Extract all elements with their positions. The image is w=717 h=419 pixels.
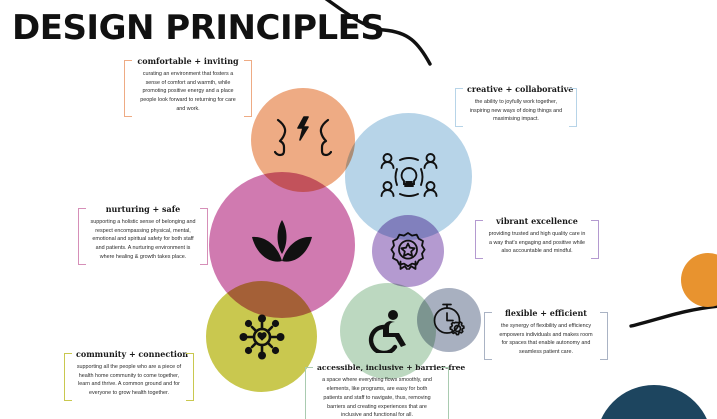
bracket-right [186,353,194,401]
bracket-left [455,88,463,127]
principle-title: flexible + efficient [496,309,596,318]
heart-network-hub-icon [237,312,287,362]
bracket-right [200,208,208,265]
principle-card-creative[interactable]: creative + collaborative the ability to … [455,80,577,129]
bracket-left [64,353,72,401]
principle-title: community + connection [76,350,182,359]
principle-body: the ability to joyfully work together, i… [467,98,565,124]
bubble-flexible-efficient[interactable] [417,288,481,352]
principle-title: accessible, inclusive + barrier-free [317,364,437,372]
bracket-left [484,312,492,360]
navy-accent-circle [596,385,712,419]
leaf-plant-icon [251,220,313,270]
award-ribbon-star-icon [390,232,426,270]
stopwatch-gear-icon [431,302,467,338]
bubble-community-connection[interactable] [206,281,317,392]
bracket-right [441,367,449,419]
bracket-right [244,60,252,117]
principle-card-flexible[interactable]: flexible + efficient the synergy of flex… [484,304,608,362]
principle-card-community[interactable]: community + connection supporting all th… [64,345,194,403]
orange-accent-circle [681,253,717,307]
principle-title: comfortable + inviting [136,57,240,66]
principle-body: curating an environment that fosters a s… [136,70,240,114]
principle-body: a space where everything flows smoothly,… [317,376,437,419]
bubble-vibrant-excellence[interactable] [372,215,444,287]
principle-card-accessible[interactable]: accessible, inclusive + barrier-free a s… [305,359,449,419]
top-squiggle-icon [318,0,448,66]
principle-title: creative + collaborative [467,85,565,94]
design-principles-poster: DESIGN PRINCIPLES [0,0,717,419]
principle-title: nurturing + safe [90,205,196,214]
principle-body: supporting all the people who are a piec… [76,363,182,398]
people-lightbulb-network-icon [380,151,438,203]
bracket-left [124,60,132,117]
principle-body: supporting a holistic sense of belonging… [90,218,196,262]
two-faces-lightning-icon [274,116,332,164]
principle-card-comfortable[interactable]: comfortable + inviting curating an envir… [124,52,252,119]
bracket-left [78,208,86,265]
principle-body: the synergy of flexibility and efficienc… [496,322,596,357]
bracket-left [305,367,313,419]
principle-body: providing trusted and high quality care … [487,230,587,256]
principle-card-vibrant[interactable]: vibrant excellence providing trusted and… [475,212,599,261]
wheelchair-accessibility-icon [366,309,410,353]
principle-title: vibrant excellence [487,217,587,226]
principle-card-nurturing[interactable]: nurturing + safe supporting a holistic s… [78,200,208,267]
bracket-right [569,88,577,127]
bracket-left [475,220,483,259]
bracket-right [591,220,599,259]
bracket-right [600,312,608,360]
